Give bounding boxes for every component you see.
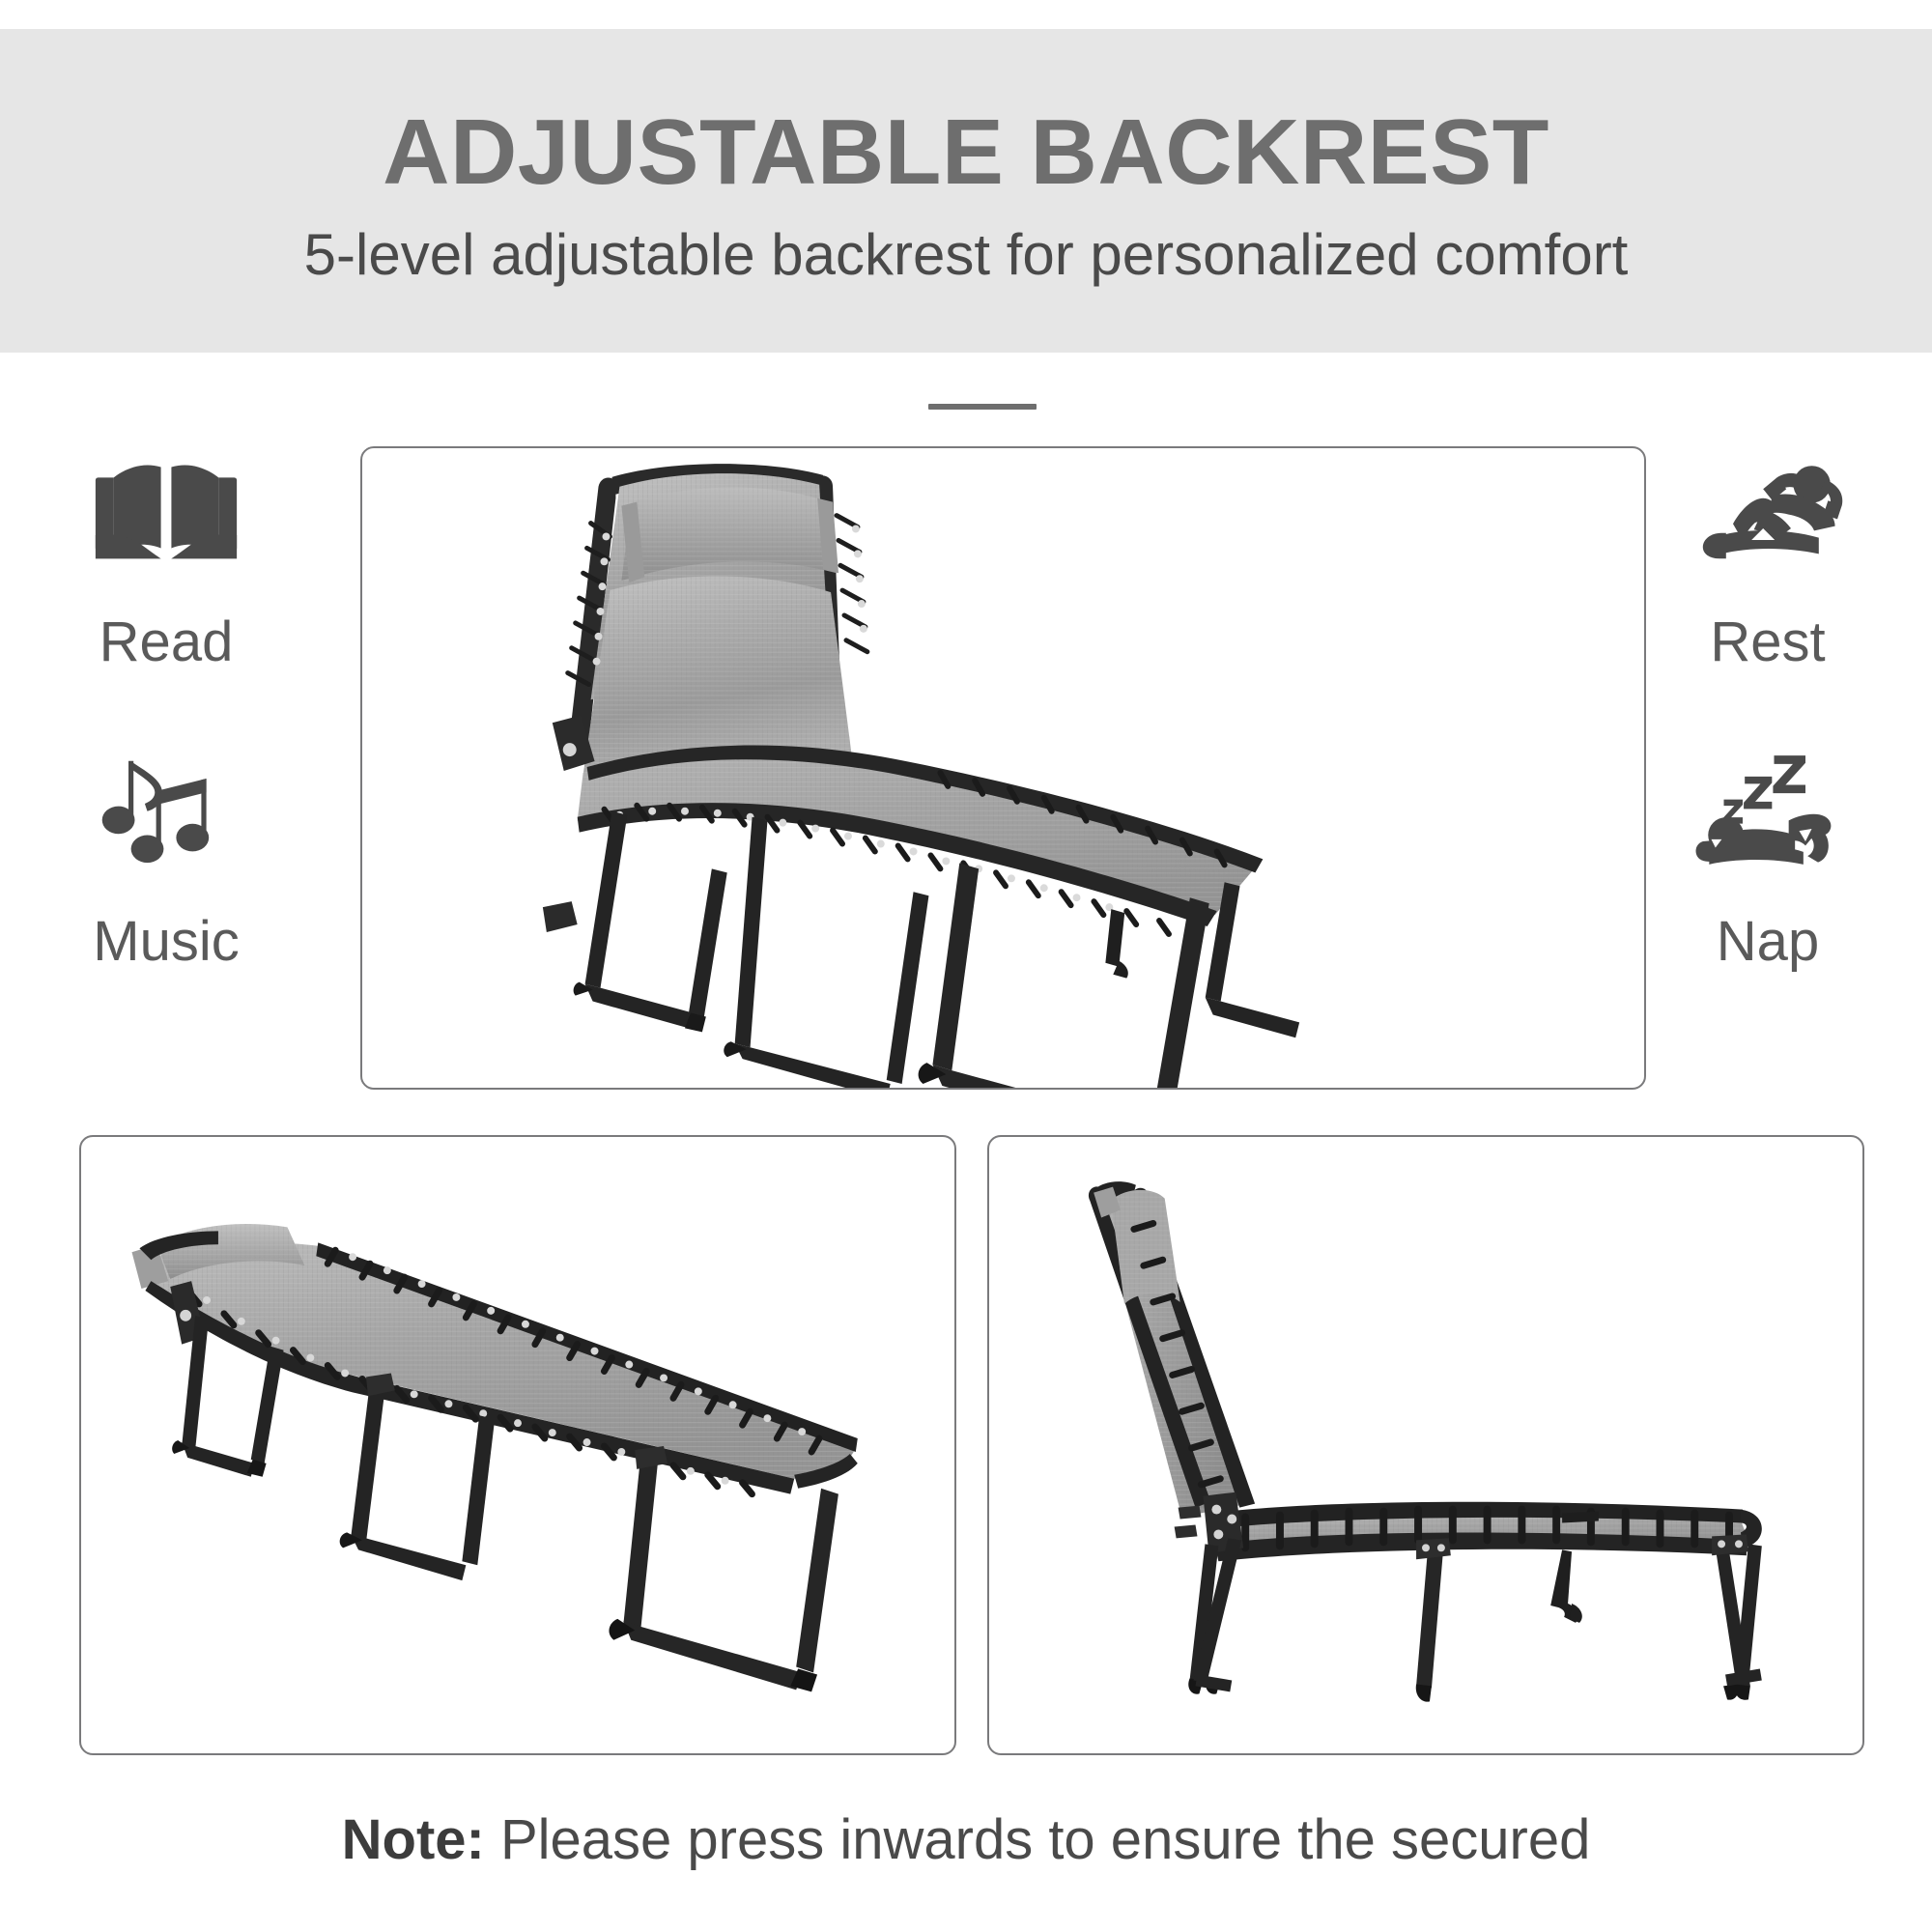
page-title: ADJUSTABLE BACKREST xyxy=(383,102,1549,203)
page-subtitle: 5-level adjustable backrest for personal… xyxy=(304,223,1629,287)
note-text: Please press inwards to ensure the secur… xyxy=(500,1808,1590,1871)
feature-rest: Rest xyxy=(1652,454,1884,670)
product-card-flat xyxy=(79,1135,956,1755)
open-book-icon xyxy=(85,454,247,580)
person-reclining-icon xyxy=(1687,454,1849,580)
product-image-reclined-lounger xyxy=(362,448,1644,1088)
feature-label-read: Read xyxy=(99,614,234,670)
product-image-flat-lounger xyxy=(81,1137,954,1753)
feature-nap: Nap xyxy=(1652,753,1884,970)
feature-label-music: Music xyxy=(93,914,239,970)
note-prefix: Note: xyxy=(342,1808,485,1871)
header-band: ADJUSTABLE BACKREST 5-level adjustable b… xyxy=(0,29,1932,353)
feature-read: Read xyxy=(50,454,282,670)
feature-label-nap: Nap xyxy=(1717,914,1819,970)
section-divider-dash xyxy=(928,404,1037,410)
product-image-side-profile-lounger xyxy=(989,1137,1862,1753)
feature-label-rest: Rest xyxy=(1710,614,1825,670)
feature-music: Music xyxy=(50,753,282,970)
infographic-page: ADJUSTABLE BACKREST 5-level adjustable b… xyxy=(0,0,1932,1932)
product-card-side xyxy=(987,1135,1864,1755)
person-sleeping-zzz-icon xyxy=(1687,753,1849,879)
note-line: Note: Please press inwards to ensure the… xyxy=(0,1808,1932,1873)
music-notes-icon xyxy=(85,753,247,879)
product-card-main xyxy=(360,446,1646,1090)
